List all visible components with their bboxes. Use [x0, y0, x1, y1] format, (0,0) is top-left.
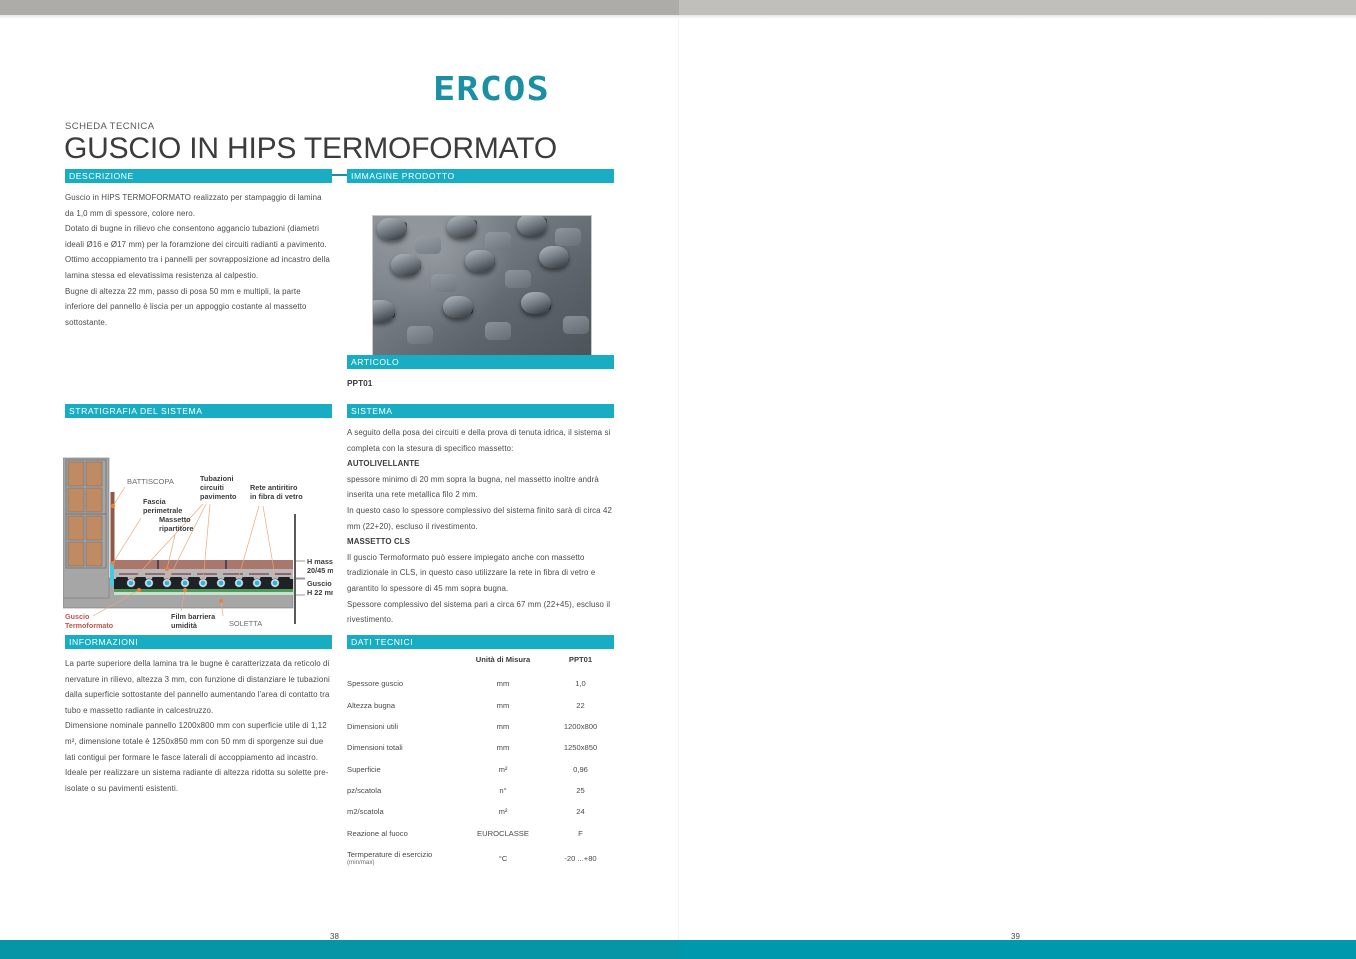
row-value: F — [547, 823, 614, 844]
row-name: Spessore guscio — [347, 673, 459, 694]
sistema-body: A seguito della posa dei circuiti e dell… — [347, 425, 614, 628]
row-value: 1,0 — [547, 673, 614, 694]
row-unit: mm — [459, 737, 547, 758]
table-row: Dimensioni utilimm1200x800 — [347, 716, 614, 737]
callout-film-barriera-2: umidità — [171, 621, 198, 630]
callout-soletta: SOLETTA — [229, 619, 262, 628]
descrizione-body: Guscio in HIPS TERMOFORMATO realizzato p… — [65, 190, 332, 330]
callout-rete-2: in fibra di vetro — [250, 492, 303, 501]
callout-h-massetto-1: H massetto — [307, 557, 333, 566]
immagine-prodotto-section: IMMAGINE PRODOTTO — [347, 169, 614, 183]
sistema-intro: A seguito della posa dei circuiti e dell… — [347, 425, 614, 456]
articolo-value: PPT01 — [347, 378, 614, 388]
viewer-bottom-bar-left — [0, 940, 679, 959]
informazioni-paragraph: Dimensione nominale pannello 1200x800 mm… — [65, 718, 332, 765]
sistema-section: SISTEMA A seguito della posa dei circuit… — [347, 404, 614, 628]
callout-film-barriera-1: Film barriera — [171, 612, 216, 621]
callout-guscio-h-1: Guscio — [307, 579, 332, 588]
row-unit: n° — [459, 780, 547, 801]
articolo-header: ARTICOLO — [347, 355, 614, 369]
row-name: Altezza bugna — [347, 694, 459, 715]
descrizione-header: DESCRIZIONE — [65, 169, 332, 183]
stratigrafia-diagram: BATTISCOPA Fascia perimetrale Massetto r… — [63, 456, 333, 636]
row-value: -20 ...+80 — [547, 844, 614, 872]
informazioni-paragraph: Ideale per realizzare un sistema radiant… — [65, 765, 332, 796]
col-name — [347, 649, 459, 673]
callout-tubazioni-2: circuiti — [200, 483, 224, 492]
descrizione-paragraph: Bugne di altezza 22 mm, passo di posa 50… — [65, 284, 332, 331]
sistema-paragraph: spessore minimo di 20 mm sopra la bugna,… — [347, 472, 614, 503]
callout-guscio-termoformato-2: Termoformato — [65, 621, 114, 630]
callout-h-massetto-2: 20/45 mm — [307, 566, 333, 575]
sistema-paragraph: In questo caso lo spessore complessivo d… — [347, 503, 614, 534]
stratigrafia-section: STRATIGRAFIA DEL SISTEMA — [65, 404, 332, 418]
row-name: Superficie — [347, 759, 459, 780]
descrizione-paragraph: Dotato di bugne in rilievo che consenton… — [65, 221, 332, 252]
row-unit: m² — [459, 759, 547, 780]
row-unit: mm — [459, 716, 547, 737]
viewer-top-bar-left — [0, 0, 679, 15]
table-row: Altezza bugnamm22 — [347, 694, 614, 715]
product-photo — [372, 215, 592, 365]
callout-guscio-h-2: H 22 mm — [307, 588, 333, 597]
row-value: 1250x850 — [547, 737, 614, 758]
informazioni-body: La parte superiore della lamina tra le b… — [65, 656, 332, 796]
callout-guscio-termoformato-1: Guscio — [65, 612, 90, 621]
row-value: 0,96 — [547, 759, 614, 780]
row-note: (min/max) — [347, 859, 459, 866]
row-name: Reazione al fuoco — [347, 823, 459, 844]
callout-fascia-2: perimetrale — [143, 506, 182, 515]
row-name: m2/scatola — [347, 801, 459, 822]
row-unit: m² — [459, 801, 547, 822]
dati-tecnici-section: DATI TECNICI Unità di Misura PPT01 Spess… — [347, 635, 614, 872]
row-name: Dimensioni utili — [347, 716, 459, 737]
table-header-row: Unità di Misura PPT01 — [347, 649, 614, 673]
sistema-paragraph: Il guscio Termoformato può essere impieg… — [347, 550, 614, 597]
descrizione-paragraph: Guscio in HIPS TERMOFORMATO realizzato p… — [65, 190, 332, 221]
page-sheet-right — [679, 19, 1356, 940]
col-unit: Unità di Misura — [459, 649, 547, 673]
table-row: m2/scatolam²24 — [347, 801, 614, 822]
sistema-header: SISTEMA — [347, 404, 614, 418]
table-row: Dimensioni totalimm1250x850 — [347, 737, 614, 758]
row-unit: EUROCLASSE — [459, 823, 547, 844]
table-row: Superficiem²0,96 — [347, 759, 614, 780]
sistema-heading-autolivellante: AUTOLIVELLANTE — [347, 456, 614, 472]
document-kicker: SCHEDA TECNICA — [65, 121, 155, 132]
row-value: 22 — [547, 694, 614, 715]
row-value: 25 — [547, 780, 614, 801]
table-row: pz/scatolan°25 — [347, 780, 614, 801]
callout-fascia-1: Fascia — [143, 497, 167, 506]
sistema-paragraph: Spessore complessivo del sistema pari a … — [347, 597, 614, 628]
table-row: Spessore gusciomm1,0 — [347, 673, 614, 694]
document-page-left: ERCOS SCHEDA TECNICA GUSCIO IN HIPS TERM… — [0, 19, 679, 940]
row-unit: mm — [459, 673, 547, 694]
informazioni-section: INFORMAZIONI La parte superiore della la… — [65, 635, 332, 796]
table-row: Termperature di esercizio(min/max)°C-20 … — [347, 844, 614, 872]
articolo-section: ARTICOLO PPT01 — [347, 355, 614, 388]
row-name: Termperature di esercizio(min/max) — [347, 844, 459, 872]
page-title: GUSCIO IN HIPS TERMOFORMATO — [64, 132, 557, 166]
callout-battiscopa: BATTISCOPA — [127, 477, 175, 486]
row-unit: mm — [459, 694, 547, 715]
viewer-top-bar — [0, 0, 1356, 15]
callout-tubazioni-1: Tubazioni — [200, 474, 234, 483]
row-value: 1200x800 — [547, 716, 614, 737]
row-name: pz/scatola — [347, 780, 459, 801]
table-row: Reazione al fuocoEUROCLASSEF — [347, 823, 614, 844]
col-value: PPT01 — [547, 649, 614, 673]
callout-massetto-2: ripartitore — [159, 524, 193, 533]
immagine-prodotto-header: IMMAGINE PRODOTTO — [347, 169, 614, 183]
dati-tecnici-table: Unità di Misura PPT01 Spessore gusciomm1… — [347, 649, 614, 872]
callout-massetto-1: Massetto — [159, 515, 191, 524]
informazioni-header: INFORMAZIONI — [65, 635, 332, 649]
row-unit: °C — [459, 844, 547, 872]
informazioni-paragraph: La parte superiore della lamina tra le b… — [65, 656, 332, 718]
callout-rete-1: Rete antiritiro — [250, 483, 298, 492]
dati-tecnici-header: DATI TECNICI — [347, 635, 614, 649]
row-name: Dimensioni totali — [347, 737, 459, 758]
ercos-logo: ERCOS — [433, 69, 550, 108]
callout-tubazioni-3: pavimento — [200, 492, 237, 501]
row-value: 24 — [547, 801, 614, 822]
stratigrafia-header: STRATIGRAFIA DEL SISTEMA — [65, 404, 332, 418]
descrizione-section: DESCRIZIONE Guscio in HIPS TERMOFORMATO … — [65, 169, 332, 330]
sistema-heading-massetto-cls: MASSETTO CLS — [347, 534, 614, 550]
viewer-bottom-bar — [0, 940, 1356, 959]
descrizione-paragraph: Ottimo accoppiamento tra i pannelli per … — [65, 252, 332, 283]
